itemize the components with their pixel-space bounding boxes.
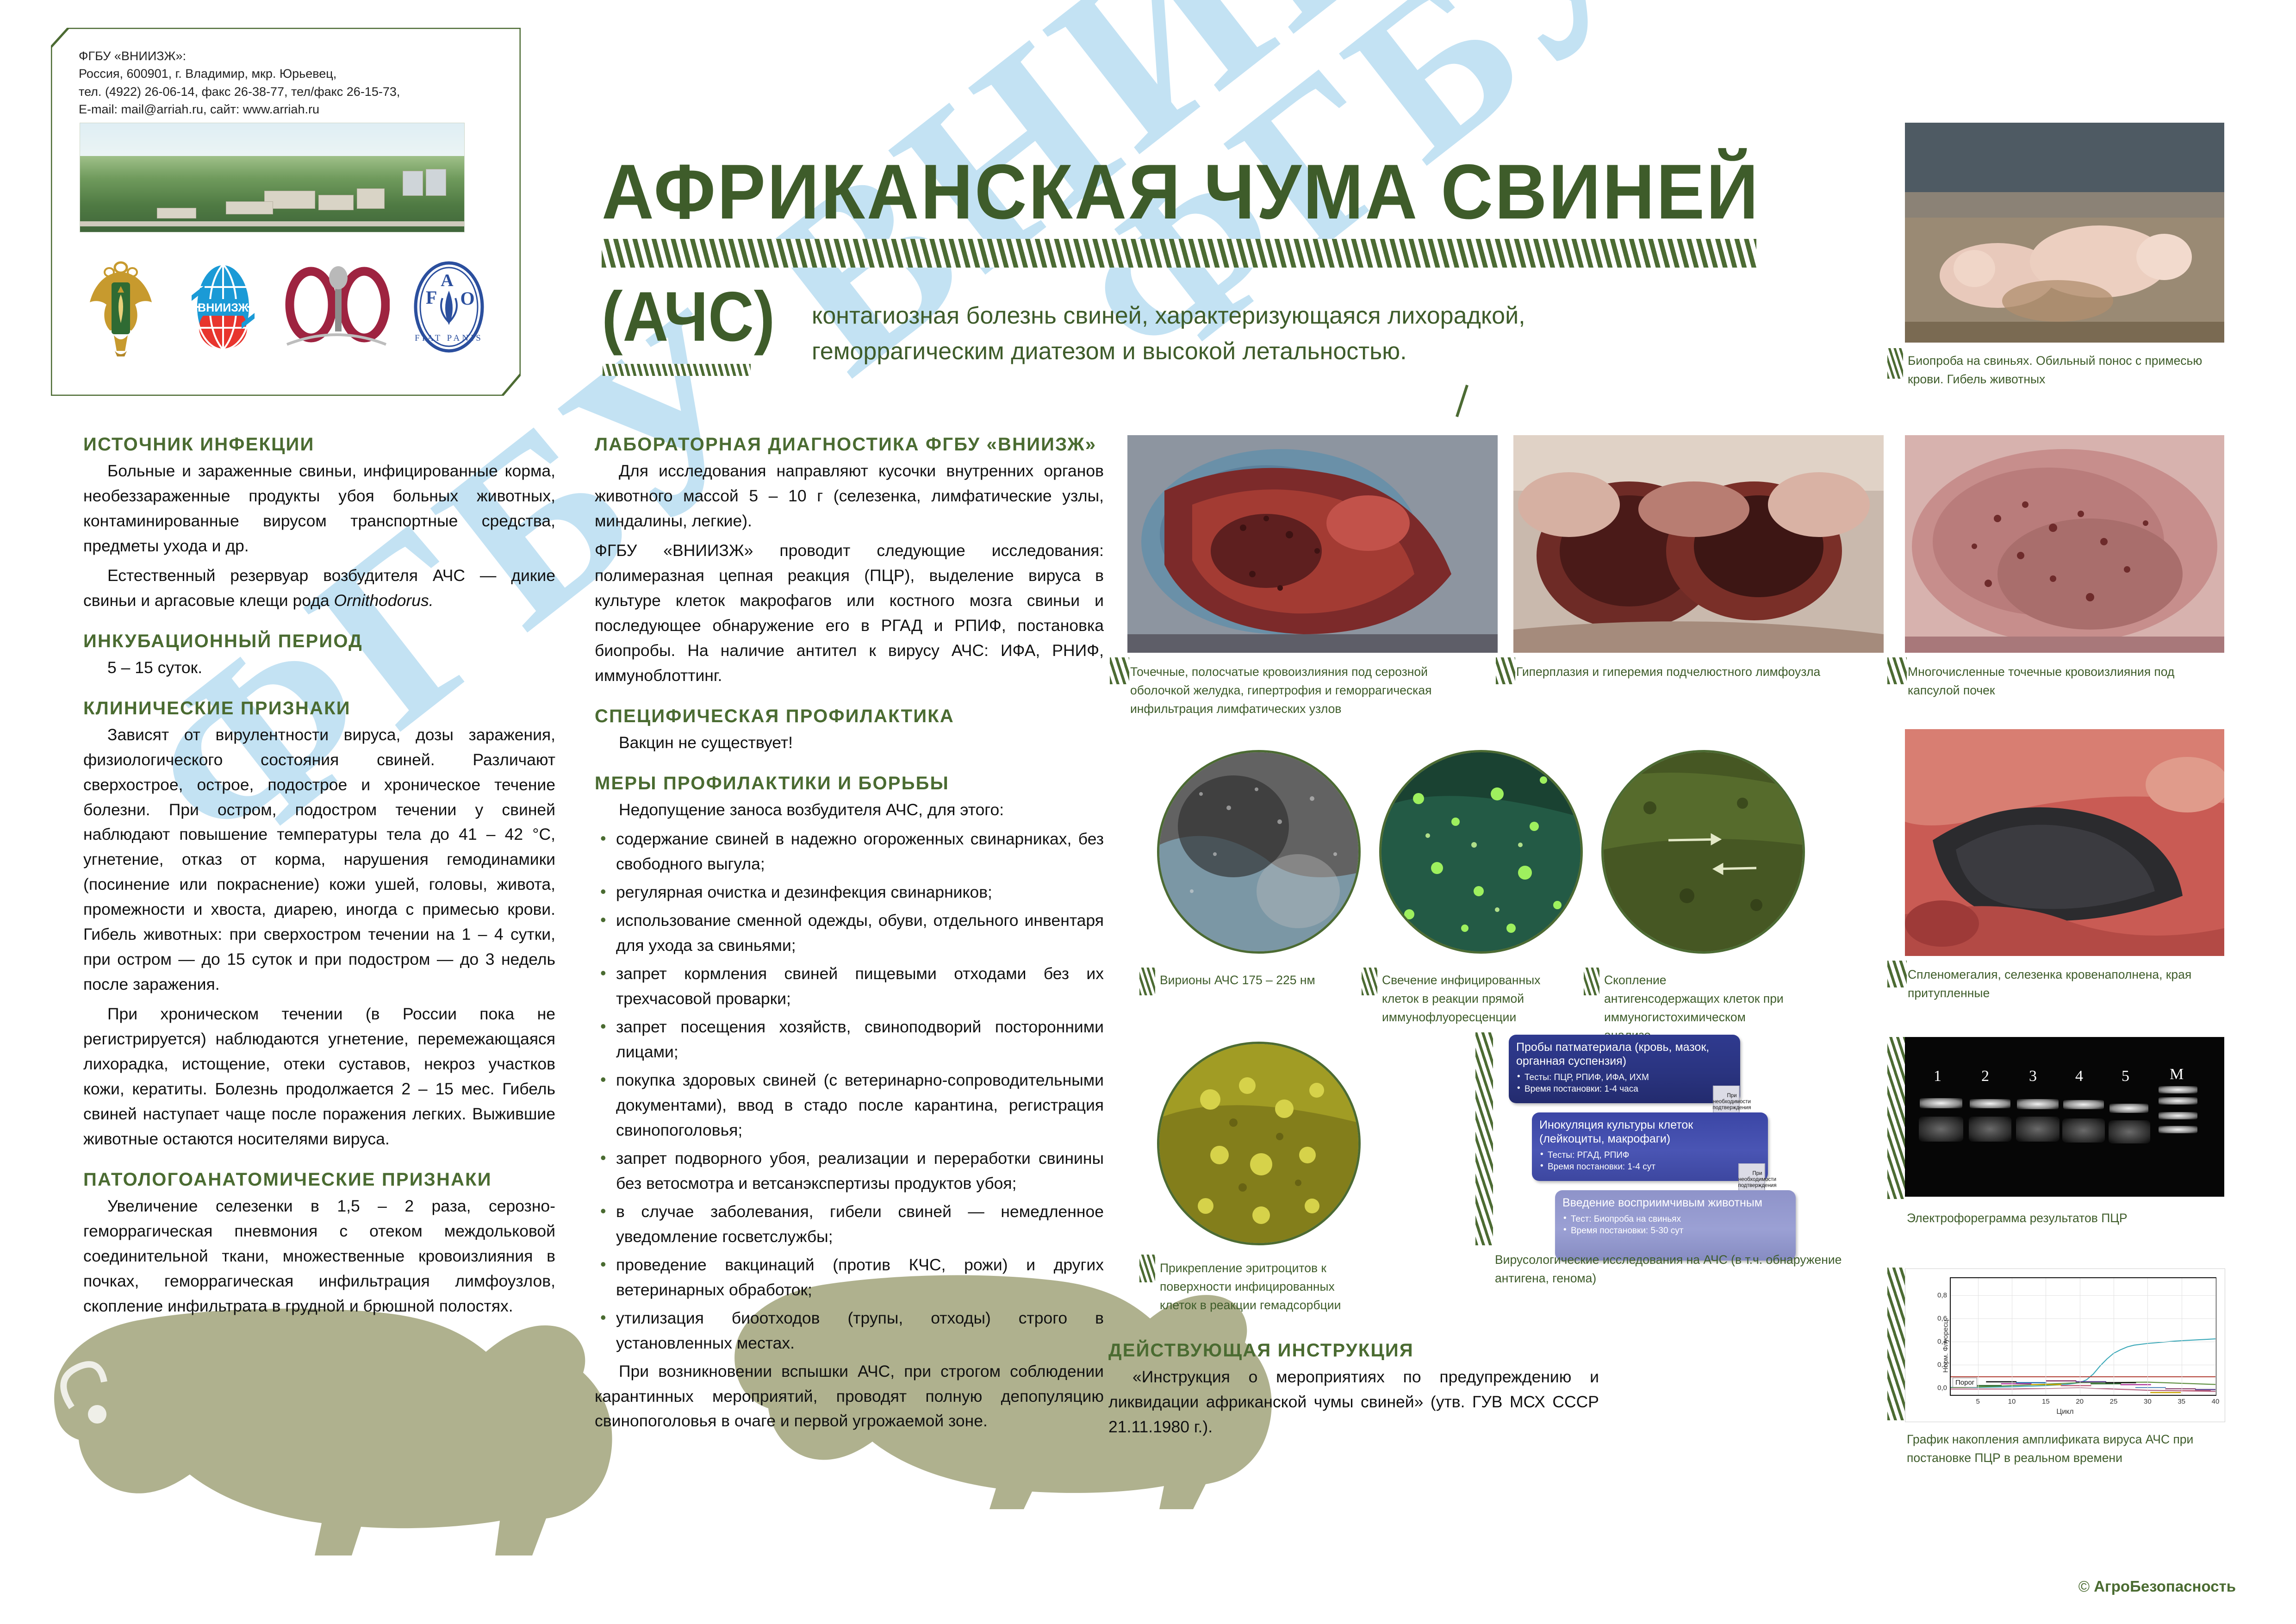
- gel-lane-3: 3: [2029, 1068, 2037, 1085]
- heading-lab-diagnostics: ЛАБОРАТОРНАЯ ДИАГНОСТИКА ФГБУ «ВНИИЗЖ»: [595, 434, 1104, 455]
- photo-kidney-hemorrhages: [1905, 435, 2224, 653]
- footer-brand: © АгроБезопасность: [2078, 1578, 2236, 1595]
- svg-text:FIAT PANIS: FIAT PANIS: [415, 333, 483, 343]
- caption-spleen: Спленомегалия, селезенка кровенаполнена,…: [1908, 966, 2204, 1003]
- text-pathological-signs: Увеличение селезенки в 1,5 – 2 раза, сер…: [83, 1194, 555, 1319]
- micrograph-virions: [1157, 750, 1361, 954]
- caption-gel: Электрофореграмма результатов ПЦР: [1907, 1209, 2203, 1228]
- title-abbreviation: (АЧС): [602, 283, 775, 350]
- svg-text:F: F: [426, 287, 437, 308]
- gel-lane-2: 2: [1981, 1068, 1989, 1085]
- contact-block: ФГБУ «ВНИИЗЖ»: Россия, 600901, г. Владим…: [79, 47, 495, 118]
- caption-virions: Вирионы АЧС 175 – 225 нм: [1160, 971, 1336, 990]
- prevention-item: запрет посещения хозяйств, свиноподворий…: [595, 1015, 1104, 1065]
- copyright-symbol: ©: [2078, 1578, 2090, 1595]
- caption-lymphnode: Гиперплазия и гиперемия подчелюстного ли…: [1516, 663, 1840, 681]
- svg-text:A: A: [441, 271, 454, 290]
- caption-immunohisto: Скопление антигенсодержащих клеток при и…: [1604, 971, 1785, 1045]
- flow-box-2-item-1: Тесты: РГАД, РПИФ: [1539, 1149, 1761, 1161]
- chart-x-label: Цикл: [2056, 1408, 2073, 1416]
- prevention-item: запрет подворного убоя, реализации и пер…: [595, 1146, 1104, 1196]
- flow-box-2-title: Инокуляция культуры клеток (лейкоциты, м…: [1539, 1118, 1761, 1146]
- title-definition: контагиозная болезнь свиней, характеризу…: [812, 298, 1691, 369]
- text-clinical-signs-1: Зависят от вирулентности вируса, дозы за…: [83, 723, 555, 997]
- chart-xtick: 40: [2212, 1398, 2220, 1405]
- photo-spleen-splenomegaly: [1905, 729, 2224, 956]
- caption-stomach: Точечные, полосчатые кровоизлияния под с…: [1130, 663, 1454, 718]
- chart-ytick: 0,2: [1937, 1361, 1947, 1369]
- vniizh-logo-icon: ВНИИЗЖ: [187, 258, 259, 358]
- caption-slash-virions: [1139, 968, 1155, 995]
- chart-gridline-x: [2114, 1278, 2114, 1395]
- prevention-item: проведение вакцинаций (против КЧС, рожи)…: [595, 1253, 1104, 1303]
- chart-xtick: 5: [1976, 1398, 1979, 1405]
- chart-plot-area: Порог 0,00,20,40,60,8510152025303540: [1950, 1277, 2216, 1396]
- org-address: Россия, 600901, г. Владимир, мкр. Юрьеве…: [79, 65, 495, 82]
- flow-box-3: Введение восприимчивым животным Тест: Би…: [1555, 1190, 1796, 1261]
- heading-clinical-signs: КЛИНИЧЕСКИЕ ПРИЗНАКИ: [83, 698, 555, 719]
- text-lab-diagnostics-2: ФГБУ «ВНИИЗЖ» проводит следующие исследо…: [595, 538, 1104, 688]
- chart-slash: [1887, 1268, 1905, 1420]
- caption-slash-hemadsorption: [1139, 1255, 1155, 1282]
- chart-gridline-y: [1951, 1318, 2215, 1319]
- gel-lane-5: 5: [2122, 1068, 2129, 1085]
- flow-box-3-item-2: Время постановки: 5-30 сут: [1562, 1225, 1788, 1237]
- chart-xtick: 30: [2144, 1398, 2152, 1405]
- heading-prevention-measures: МЕРЫ ПРОФИЛАКТИКИ И БОРЬБЫ: [595, 773, 1104, 794]
- prevention-item: покупка здоровых свиней (с ветеринарно-с…: [595, 1068, 1104, 1143]
- gel-slash: [1887, 1037, 1905, 1199]
- photo-biosample-pigs: [1905, 123, 2224, 343]
- page-title: АФРИКАНСКАЯ ЧУМА СВИНЕЙ: [602, 153, 1704, 231]
- photo-lymph-node: [1513, 435, 1884, 653]
- text-clinical-signs-2: При хроническом течении (в России пока н…: [83, 1002, 555, 1152]
- caption-slash-stomach: [1110, 657, 1129, 684]
- chart-threshold-label: Порог: [1953, 1378, 1977, 1387]
- text-specific-prophylaxis: Вакцин не существует!: [595, 731, 1104, 756]
- caption-slash-kidney: [1887, 657, 1907, 684]
- chart-gridline-y: [1951, 1342, 2215, 1342]
- chart-gridline-x: [2012, 1278, 2012, 1395]
- caption-slash-spleen: [1887, 961, 1907, 987]
- chart-xtick: 15: [2042, 1398, 2050, 1405]
- svg-text:ВНИИЗЖ: ВНИИЗЖ: [198, 301, 249, 314]
- chart-xtick: 10: [2008, 1398, 2016, 1405]
- partner-logos: ВНИИЗЖ F A O FIAT PANIS: [80, 250, 492, 368]
- chart-gridline-x: [2080, 1278, 2080, 1395]
- fao-logo-icon: F A O FIAT PANIS: [412, 258, 486, 358]
- micrograph-fluorescence: [1379, 750, 1583, 954]
- svg-text:O: O: [460, 288, 474, 309]
- chart-xtick: 25: [2110, 1398, 2118, 1405]
- prevention-item: запрет кормления свиней пищевыми отходам…: [595, 962, 1104, 1012]
- caption-fluorescence: Свечение инфицированных клеток в реакции…: [1382, 971, 1558, 1026]
- prevention-item: содержание свиней в надежно огороженных …: [595, 827, 1104, 877]
- chart-gridline-x: [2215, 1278, 2216, 1395]
- heading-specific-prophylaxis: СПЕЦИФИЧЕСКАЯ ПРОФИЛАКТИКА: [595, 706, 1104, 727]
- prevention-item: использование сменной одежды, обуви, отд…: [595, 908, 1104, 958]
- heading-source-of-infection: ИСТОЧНИК ИНФЕКЦИИ: [83, 434, 555, 455]
- flow-box-1-title: Пробы патматериала (кровь, мазок, органн…: [1516, 1040, 1733, 1068]
- brand-name: АгроБезопасность: [2094, 1578, 2236, 1595]
- caption-hemadsorption: Прикрепление эритроцитов к поверхности и…: [1160, 1259, 1354, 1314]
- chart-ytick: 0,6: [1937, 1315, 1947, 1323]
- text-incubation-period: 5 – 15 суток.: [83, 656, 555, 681]
- org-email[interactable]: E-mail: mail@arriah.ru, сайт: www.arriah…: [79, 100, 495, 118]
- prevention-item: регулярная очистка и дезинфекция свинарн…: [595, 880, 1104, 905]
- text-source-of-infection-2: Естественный резервуар возбудителя АЧС —…: [83, 563, 555, 613]
- caption-kidney: Многочисленные точечные кровоизлияния по…: [1908, 663, 2204, 700]
- flow-box-3-item-1: Тест: Биопроба на свиньях: [1562, 1213, 1788, 1225]
- column-left: ИСТОЧНИК ИНФЕКЦИИ Больные и зараженные с…: [83, 434, 555, 1324]
- caption-slash-immunohisto: [1584, 968, 1599, 995]
- text-prevention-intro: Недопущение заноса возбудителя АЧС, для …: [595, 798, 1104, 823]
- chart-gridline-x: [2046, 1278, 2046, 1395]
- chart-gridline-x: [2182, 1278, 2182, 1395]
- org-name: ФГБУ «ВНИИЗЖ»:: [79, 47, 495, 65]
- flow-box-1-item-1: Тесты: ПЦР, РПИФ, ИФА, ИХМ: [1516, 1072, 1733, 1083]
- heading-current-instruction: ДЕЙСТВУЮЩАЯ ИНСТРУКЦИЯ: [1108, 1340, 1599, 1361]
- aerial-photo-institute: [80, 123, 465, 232]
- heading-pathological-signs: ПАТОЛОГОАНАТОМИЧЕСКИЕ ПРИЗНАКИ: [83, 1169, 555, 1190]
- text-source-of-infection-1: Больные и зараженные свиньи, инфицирован…: [83, 459, 555, 559]
- chart-gridline-y: [1951, 1365, 2215, 1365]
- title-hatch-rule: [602, 239, 1756, 268]
- organization-header-box: ФГБУ «ВНИИЗЖ»: Россия, 600901, г. Владим…: [51, 28, 521, 396]
- poster-title-block: АФРИКАНСКАЯ ЧУМА СВИНЕЙ (АЧС) контагиозн…: [602, 153, 1786, 369]
- oie-logo-icon: [283, 258, 390, 358]
- heading-incubation-period: ИНКУБАЦИОННЫЙ ПЕРИОД: [83, 631, 555, 652]
- text-prevention-outro: При возникновении вспышки АЧС, при строг…: [595, 1359, 1104, 1434]
- chart-series-positive-sample: [1951, 1339, 2215, 1387]
- caption-slash-biosample: [1887, 348, 1903, 379]
- rosselkhoznadzor-emblem-icon: [86, 258, 156, 358]
- gel-lane-1: 1: [1934, 1068, 1941, 1085]
- chart-gridline-x: [1978, 1278, 1979, 1395]
- chart-gridline-x: [2147, 1278, 2148, 1395]
- gel-lane-marker: M: [2170, 1066, 2184, 1083]
- caption-biosample: Биопроба на свиньях. Обильный понос с пр…: [1908, 352, 2204, 389]
- title-hatch-small: [603, 364, 751, 376]
- org-phones: тел. (4922) 26-06-14, факс 26-38-77, тел…: [79, 83, 495, 100]
- chart-threshold-line: [1951, 1376, 2215, 1377]
- chart-gridline-y: [1951, 1388, 2215, 1388]
- prevention-item: утилизация биоотходов (трупы, отходы) ст…: [595, 1306, 1104, 1356]
- list-prevention-measures: содержание свиней в надежно огороженных …: [595, 827, 1104, 1355]
- image-pcr-gel: 1 2 3 4 5 M: [1905, 1037, 2224, 1197]
- chart-ytick: 0,0: [1937, 1384, 1947, 1392]
- text-current-instruction: «Инструкция о мероприятиях по предупрежд…: [1108, 1365, 1599, 1440]
- chart-xtick: 20: [2076, 1398, 2084, 1405]
- photo-stomach-hemorrhages: [1127, 435, 1498, 653]
- chart-ytick: 0,8: [1937, 1292, 1947, 1299]
- micrograph-hemadsorption: [1157, 1042, 1361, 1245]
- text-lab-diagnostics-1: Для исследования направляют кусочки внут…: [595, 459, 1104, 534]
- section-current-instruction: ДЕЙСТВУЮЩАЯ ИНСТРУКЦИЯ «Инструкция о мер…: [1108, 1340, 1599, 1444]
- gel-lane-4: 4: [2075, 1068, 2083, 1085]
- flow-box-3-title: Введение восприимчивым животным: [1562, 1196, 1788, 1210]
- chart-realtime-pcr: Норм. Флуоресц. Цикл Порог 0,00,20,40,60…: [1905, 1268, 2225, 1422]
- column-middle: ЛАБОРАТОРНАЯ ДИАГНОСТИКА ФГБУ «ВНИИЗЖ» Д…: [595, 434, 1104, 1438]
- flow-diagram-virology: Пробы патматериала (кровь, мазок, органн…: [1495, 1035, 1842, 1238]
- chart-ytick: 0,4: [1937, 1338, 1947, 1346]
- caption-slash-lymphnode: [1496, 657, 1515, 684]
- caption-flow-diagram: Вирусологические исследования на АЧС (в …: [1495, 1251, 1847, 1288]
- flow-diagram-slash: [1475, 1032, 1493, 1245]
- micrograph-immunohisto: [1601, 750, 1805, 954]
- chart-xtick: 35: [2178, 1398, 2185, 1405]
- prevention-item: в случае заболевания, гибели свиней — не…: [595, 1199, 1104, 1249]
- caption-slash-fluorescence: [1362, 968, 1377, 995]
- title-tick-mark: [1456, 385, 1468, 417]
- chart-gridline-y: [1951, 1295, 2215, 1296]
- caption-rtpcr: График накопления амплификата вируса АЧС…: [1907, 1430, 2203, 1468]
